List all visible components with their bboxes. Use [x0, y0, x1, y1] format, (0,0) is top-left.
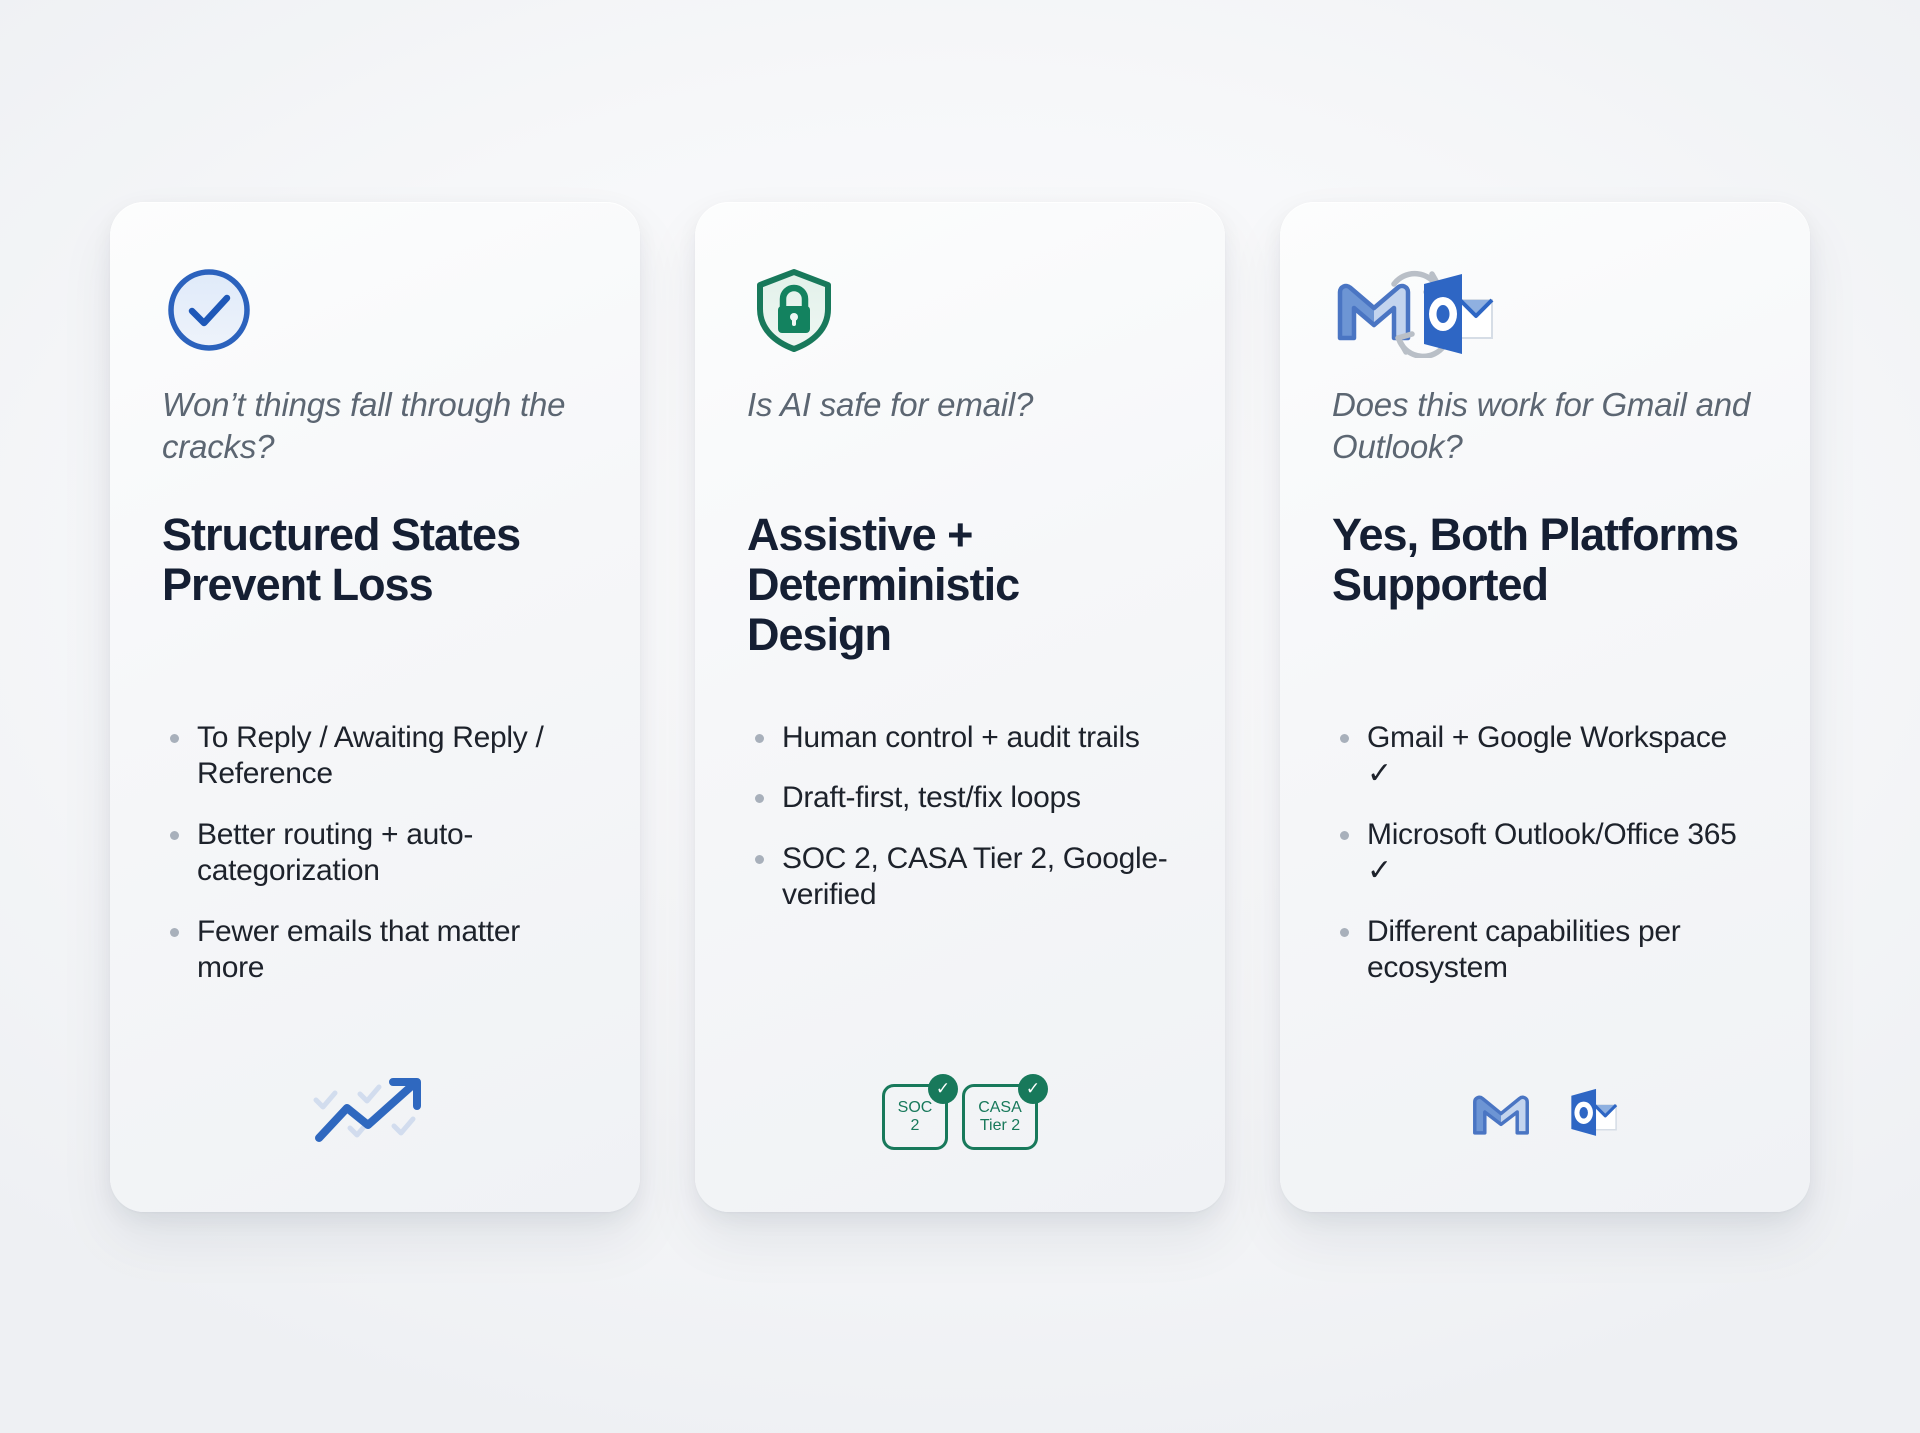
card-icon-slot — [1332, 258, 1758, 362]
card-question: Is AI safe for email? — [747, 384, 1173, 472]
card-icon-slot — [162, 258, 588, 362]
card-question: Won’t things fall through the cracks? — [162, 384, 588, 472]
list-item: SOC 2, CASA Tier 2, Google-verified — [747, 841, 1173, 914]
badge-line-1: SOC — [898, 1099, 933, 1117]
list-item: Fewer emails that matter more — [162, 914, 588, 987]
card-bullet-list: To Reply / Awaiting Reply / Reference Be… — [162, 720, 588, 1048]
faq-card-assistive-design[interactable]: Is AI safe for email? Assistive + Determ… — [695, 202, 1225, 1212]
card-footer — [1332, 1052, 1758, 1172]
check-circle-icon: ✓ — [1018, 1074, 1048, 1104]
list-item: Microsoft Outlook/Office 365 ✓ — [1332, 817, 1758, 890]
check-circle-icon: ✓ — [928, 1074, 958, 1104]
list-item: Draft-first, test/fix loops — [747, 780, 1173, 817]
list-item: Better routing + auto-categorization — [162, 817, 588, 890]
card-bullet-list: Human control + audit trails Draft-first… — [747, 720, 1173, 1048]
check-circle-icon — [162, 263, 256, 357]
card-bullet-list: Gmail + Google Workspace ✓ Microsoft Out… — [1332, 720, 1758, 1048]
card-footer: SOC 2 ✓ CASA Tier 2 ✓ — [747, 1052, 1173, 1172]
compliance-badge-row: SOC 2 ✓ CASA Tier 2 ✓ — [882, 1074, 1038, 1150]
list-item: Gmail + Google Workspace ✓ — [1332, 720, 1758, 793]
gmail-logo — [1469, 1085, 1533, 1139]
card-headline: Yes, Both Platforms Supported — [1332, 510, 1758, 682]
card-headline: Structured States Prevent Loss — [162, 510, 588, 682]
list-item: Different capabilities per ecosystem — [1332, 914, 1758, 987]
list-item: To Reply / Awaiting Reply / Reference — [162, 720, 588, 793]
faq-card-board: Won’t things fall through the cracks? St… — [0, 0, 1920, 1433]
casa-tier2-badge: CASA Tier 2 ✓ — [962, 1084, 1038, 1150]
gmail-outlook-sync-icon — [1332, 262, 1502, 358]
shield-lock-icon — [747, 263, 841, 357]
badge-line-2: 2 — [911, 1117, 920, 1135]
faq-card-structured-states[interactable]: Won’t things fall through the cracks? St… — [110, 202, 640, 1212]
badge-line-2: Tier 2 — [980, 1117, 1020, 1135]
list-item: Human control + audit trails — [747, 720, 1173, 757]
trending-up-icon — [310, 1070, 440, 1154]
gmail-logo — [1340, 285, 1408, 337]
faq-card-platform-support[interactable]: Does this work for Gmail and Outlook? Ye… — [1280, 202, 1810, 1212]
card-question: Does this work for Gmail and Outlook? — [1332, 384, 1758, 472]
card-icon-slot — [747, 258, 1173, 362]
card-headline: Assistive + Deterministic Design — [747, 510, 1173, 682]
card-footer — [162, 1052, 588, 1172]
badge-line-1: CASA — [978, 1099, 1022, 1117]
outlook-logo — [1551, 1085, 1621, 1139]
soc2-badge: SOC 2 ✓ — [882, 1084, 948, 1150]
outlook-logo — [1424, 274, 1492, 354]
card-row: Won’t things fall through the cracks? St… — [0, 0, 1920, 1433]
